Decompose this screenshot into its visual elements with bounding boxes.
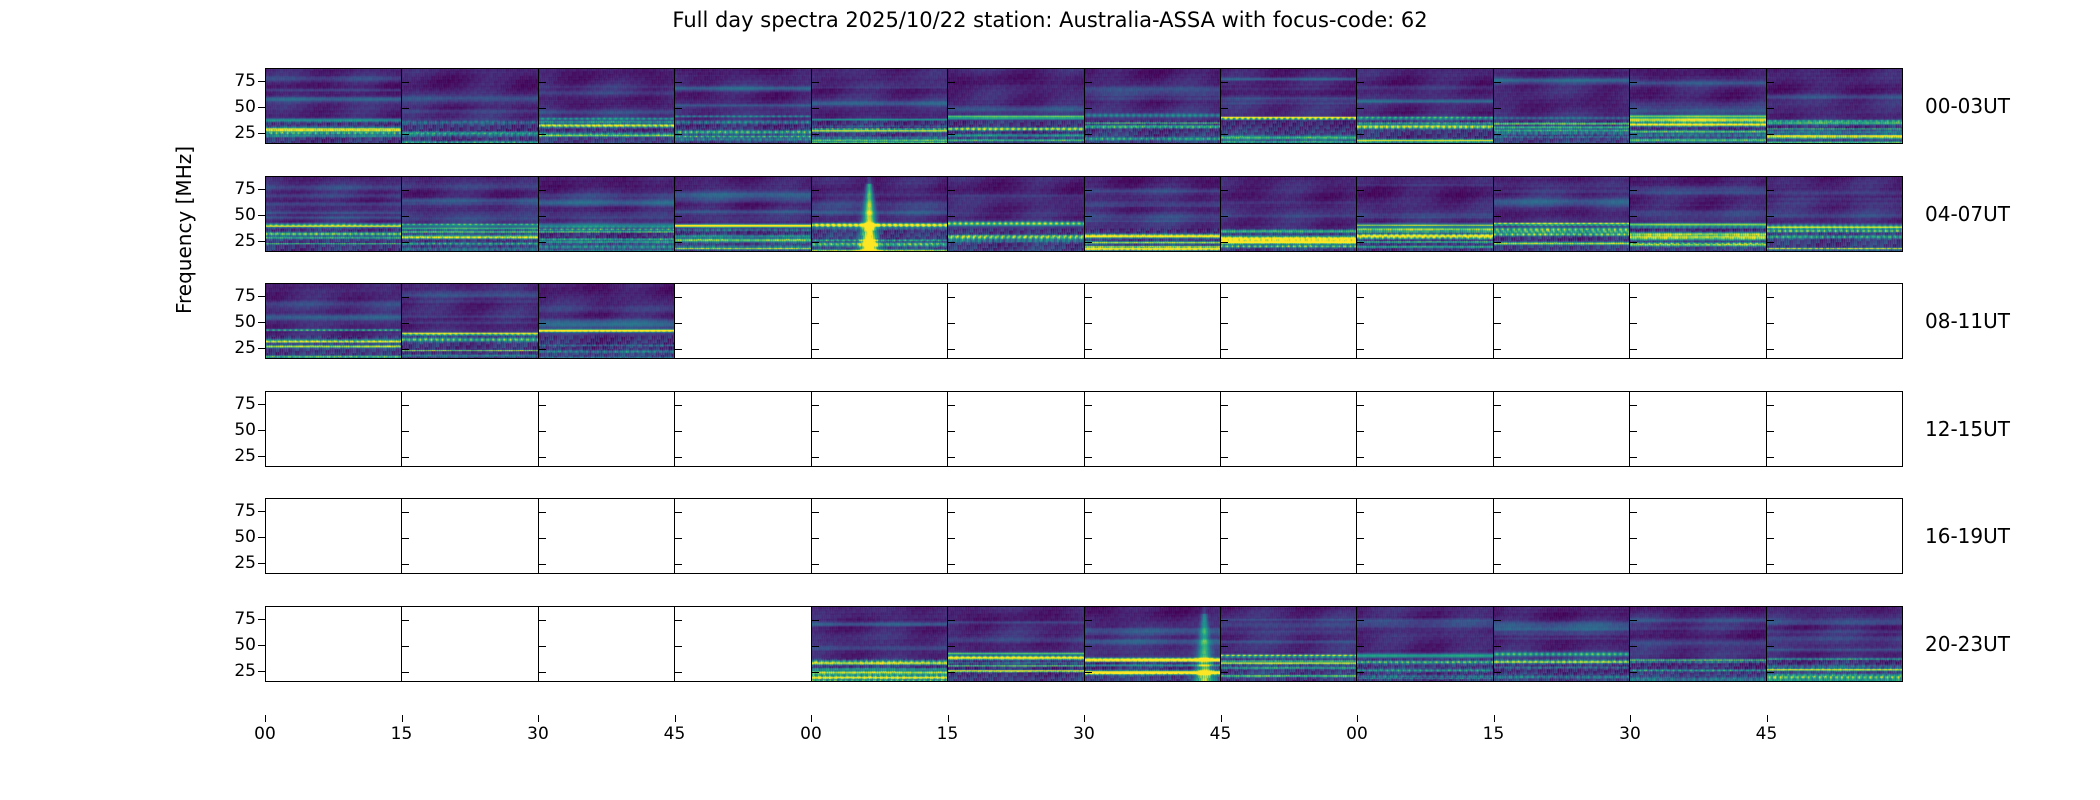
y-tick-mark bbox=[258, 537, 265, 538]
y-tick-mark-inner bbox=[539, 134, 546, 135]
y-tick-mark-inner bbox=[675, 646, 682, 647]
spectrogram-subpanel bbox=[1085, 177, 1221, 251]
y-tick-mark-inner bbox=[1630, 82, 1637, 83]
y-tick-mark bbox=[258, 430, 265, 431]
figure-title: Full day spectra 2025/10/22 station: Aus… bbox=[0, 8, 2100, 32]
y-tick-mark-inner bbox=[675, 672, 682, 673]
y-tick-mark bbox=[258, 645, 265, 646]
row-subpanels bbox=[266, 607, 1902, 681]
spectrogram-subpanel bbox=[1221, 177, 1357, 251]
y-tick-mark-inner bbox=[1494, 672, 1501, 673]
y-tick-mark-inner bbox=[812, 134, 819, 135]
spectrogram-subpanel bbox=[948, 69, 1084, 143]
x-tick-mark bbox=[1494, 715, 1495, 722]
y-tick-mark-inner bbox=[948, 646, 955, 647]
spectrogram-subpanel bbox=[1494, 69, 1630, 143]
y-tick-label: 50 bbox=[234, 97, 256, 117]
y-tick-mark-inner bbox=[1085, 297, 1092, 298]
y-tick-mark-inner bbox=[1630, 297, 1637, 298]
y-tick-mark-inner bbox=[1767, 646, 1774, 647]
y-tick-mark-inner bbox=[1630, 323, 1637, 324]
y-tick-mark-inner bbox=[675, 405, 682, 406]
y-tick-mark-inner bbox=[402, 134, 409, 135]
y-tick-mark-inner bbox=[1494, 216, 1501, 217]
y-tick-mark-inner bbox=[1630, 349, 1637, 350]
y-tick-mark-inner bbox=[948, 457, 955, 458]
y-tick-mark-inner bbox=[539, 564, 546, 565]
y-tick-mark-inner bbox=[1630, 512, 1637, 513]
empty-subpanel bbox=[266, 499, 402, 573]
y-tick-mark-inner bbox=[675, 620, 682, 621]
y-tick-mark-inner bbox=[1767, 672, 1774, 673]
y-tick-mark-inner bbox=[1221, 297, 1228, 298]
y-tick-mark-inner bbox=[1085, 672, 1092, 673]
y-tick-mark-inner bbox=[675, 242, 682, 243]
y-tick-mark bbox=[258, 81, 265, 82]
y-tick-mark bbox=[258, 563, 265, 564]
y-tick-mark-inner bbox=[1630, 457, 1637, 458]
y-tick-mark-inner bbox=[812, 512, 819, 513]
row-label: 04-07UT bbox=[1925, 202, 2010, 226]
x-tick-mark bbox=[1357, 715, 1358, 722]
y-tick-mark-inner bbox=[1357, 538, 1364, 539]
y-tick-mark-inner bbox=[402, 349, 409, 350]
spectrogram-subpanel bbox=[812, 607, 948, 681]
y-tick-mark-inner bbox=[1357, 457, 1364, 458]
spectrogram-image bbox=[1494, 607, 1629, 681]
spectrogram-subpanel bbox=[1494, 177, 1630, 251]
empty-subpanel bbox=[1085, 284, 1221, 358]
y-tick-mark-inner bbox=[402, 672, 409, 673]
x-tick-mark bbox=[265, 715, 266, 722]
x-tick-label: 15 bbox=[937, 724, 959, 744]
x-tick-mark bbox=[402, 715, 403, 722]
y-tick-label: 25 bbox=[234, 661, 256, 681]
spectrogram-image bbox=[1767, 607, 1902, 681]
spectrogram-subpanel bbox=[1085, 69, 1221, 143]
x-tick-label: 30 bbox=[1073, 724, 1095, 744]
empty-subpanel bbox=[1357, 392, 1493, 466]
y-tick-mark-inner bbox=[1494, 190, 1501, 191]
y-tick-mark bbox=[258, 133, 265, 134]
x-tick-label: 30 bbox=[527, 724, 549, 744]
y-tick-mark-inner bbox=[948, 405, 955, 406]
y-tick-mark-inner bbox=[1494, 349, 1501, 350]
spectrogram-image bbox=[812, 607, 947, 681]
y-tick-mark-inner bbox=[812, 457, 819, 458]
spectrogram-subpanel bbox=[948, 177, 1084, 251]
spectrogram-image bbox=[948, 607, 1083, 681]
y-tick-mark-inner bbox=[1357, 323, 1364, 324]
spectrogram-image bbox=[539, 177, 674, 251]
y-tick-label: 75 bbox=[234, 394, 256, 414]
spectrogram-subpanel bbox=[266, 69, 402, 143]
spectrogram-image bbox=[1630, 69, 1765, 143]
row-subpanels bbox=[266, 499, 1902, 573]
y-tick-mark-inner bbox=[402, 457, 409, 458]
spectrogram-image bbox=[266, 177, 401, 251]
spectrogram-subpanel bbox=[402, 69, 538, 143]
y-tick-mark-inner bbox=[1357, 216, 1364, 217]
y-tick-mark-inner bbox=[675, 134, 682, 135]
y-tick-mark-inner bbox=[1085, 323, 1092, 324]
spectrogram-subpanel bbox=[948, 607, 1084, 681]
y-tick-mark-inner bbox=[675, 323, 682, 324]
y-tick-mark-inner bbox=[1085, 512, 1092, 513]
y-tick-mark-inner bbox=[539, 538, 546, 539]
y-tick-mark-inner bbox=[948, 216, 955, 217]
y-tick-mark-inner bbox=[675, 82, 682, 83]
row-subpanels bbox=[266, 177, 1902, 251]
spectrogram-row bbox=[265, 68, 1903, 144]
spectrogram-subpanel bbox=[1767, 69, 1902, 143]
y-tick-mark-inner bbox=[539, 108, 546, 109]
y-tick-mark-inner bbox=[1767, 405, 1774, 406]
y-tick-mark-inner bbox=[1767, 512, 1774, 513]
y-tick-mark-inner bbox=[948, 190, 955, 191]
y-tick-mark-inner bbox=[675, 431, 682, 432]
spectrogram-image bbox=[266, 69, 401, 143]
y-tick-mark-inner bbox=[402, 512, 409, 513]
spectrogram-subpanel bbox=[1357, 607, 1493, 681]
y-tick-mark-inner bbox=[1357, 672, 1364, 673]
spectrogram-image bbox=[266, 284, 401, 358]
row-subpanels bbox=[266, 284, 1902, 358]
y-tick-label: 50 bbox=[234, 312, 256, 332]
spectrogram-row bbox=[265, 391, 1903, 467]
y-tick-mark bbox=[258, 189, 265, 190]
y-tick-mark-inner bbox=[948, 349, 955, 350]
y-tick-mark-inner bbox=[539, 457, 546, 458]
y-tick-mark-inner bbox=[1630, 134, 1637, 135]
y-tick-mark-inner bbox=[539, 297, 546, 298]
empty-subpanel bbox=[675, 607, 811, 681]
y-tick-mark-inner bbox=[1357, 242, 1364, 243]
spectrogram-subpanel bbox=[1630, 177, 1766, 251]
empty-subpanel bbox=[948, 499, 1084, 573]
x-tick-mark bbox=[948, 715, 949, 722]
y-tick-mark-inner bbox=[1085, 216, 1092, 217]
y-tick-mark-inner bbox=[1494, 620, 1501, 621]
empty-subpanel bbox=[1630, 392, 1766, 466]
y-tick-label: 75 bbox=[234, 501, 256, 521]
y-tick-mark-inner bbox=[1085, 538, 1092, 539]
x-tick-mark bbox=[1767, 715, 1768, 722]
spectrogram-row bbox=[265, 283, 1903, 359]
y-tick-mark-inner bbox=[1630, 672, 1637, 673]
y-tick-mark-inner bbox=[402, 538, 409, 539]
y-tick-mark-inner bbox=[1494, 82, 1501, 83]
spectrogram-subpanel bbox=[539, 69, 675, 143]
y-tick-mark-inner bbox=[1494, 512, 1501, 513]
y-tick-mark-inner bbox=[1357, 82, 1364, 83]
y-tick-mark-inner bbox=[1221, 405, 1228, 406]
y-tick-mark-inner bbox=[675, 108, 682, 109]
y-tick-mark-inner bbox=[1630, 405, 1637, 406]
y-tick-mark-inner bbox=[402, 620, 409, 621]
y-tick-mark bbox=[258, 671, 265, 672]
y-tick-mark-inner bbox=[1357, 405, 1364, 406]
spectrogram-subpanel bbox=[1630, 607, 1766, 681]
empty-subpanel bbox=[675, 499, 811, 573]
y-tick-mark-inner bbox=[539, 242, 546, 243]
empty-subpanel bbox=[1494, 392, 1630, 466]
spectrogram-subpanel bbox=[1221, 607, 1357, 681]
y-tick-mark-inner bbox=[1085, 242, 1092, 243]
y-tick-mark-inner bbox=[402, 646, 409, 647]
y-tick-mark-inner bbox=[1494, 242, 1501, 243]
y-tick-mark-inner bbox=[948, 108, 955, 109]
empty-subpanel bbox=[1085, 499, 1221, 573]
y-tick-mark-inner bbox=[1085, 82, 1092, 83]
y-tick-mark-inner bbox=[1767, 349, 1774, 350]
spectrogram-image bbox=[1221, 177, 1356, 251]
y-tick-label: 25 bbox=[234, 446, 256, 466]
y-tick-label: 50 bbox=[234, 635, 256, 655]
y-tick-mark-inner bbox=[1221, 646, 1228, 647]
spectrogram-image bbox=[1630, 177, 1765, 251]
y-tick-mark-inner bbox=[1767, 457, 1774, 458]
spectrogram-image bbox=[812, 177, 947, 251]
y-tick-mark bbox=[258, 511, 265, 512]
spectrogram-image bbox=[1221, 607, 1356, 681]
y-tick-mark-inner bbox=[1221, 349, 1228, 350]
spectrogram-subpanel bbox=[539, 177, 675, 251]
y-tick-mark-inner bbox=[1085, 646, 1092, 647]
y-tick-mark-inner bbox=[948, 242, 955, 243]
x-tick-label: 00 bbox=[800, 724, 822, 744]
x-tick-mark bbox=[1630, 715, 1631, 722]
spectrogram-subpanel bbox=[675, 177, 811, 251]
spectrogram-row bbox=[265, 498, 1903, 574]
y-tick-mark-inner bbox=[1221, 82, 1228, 83]
spectrogram-subpanel bbox=[402, 284, 538, 358]
y-tick-mark-inner bbox=[539, 323, 546, 324]
y-tick-mark-inner bbox=[1221, 512, 1228, 513]
y-tick-mark-inner bbox=[812, 405, 819, 406]
y-tick-mark-inner bbox=[539, 512, 546, 513]
y-tick-mark-inner bbox=[948, 134, 955, 135]
empty-subpanel bbox=[948, 392, 1084, 466]
empty-subpanel bbox=[1494, 499, 1630, 573]
empty-subpanel bbox=[266, 392, 402, 466]
spectrogram-subpanel bbox=[266, 284, 402, 358]
row-subpanels bbox=[266, 69, 1902, 143]
empty-subpanel bbox=[812, 392, 948, 466]
y-tick-mark-inner bbox=[1767, 323, 1774, 324]
spectrogram-image bbox=[1357, 69, 1492, 143]
y-tick-mark-inner bbox=[539, 82, 546, 83]
y-tick-mark bbox=[258, 348, 265, 349]
empty-subpanel bbox=[1767, 392, 1902, 466]
y-tick-mark bbox=[258, 215, 265, 216]
y-tick-mark-inner bbox=[812, 349, 819, 350]
y-tick-mark-inner bbox=[539, 190, 546, 191]
y-tick-mark-inner bbox=[1767, 134, 1774, 135]
y-tick-mark-inner bbox=[812, 538, 819, 539]
y-tick-mark-inner bbox=[1767, 538, 1774, 539]
empty-subpanel bbox=[675, 284, 811, 358]
y-tick-mark-inner bbox=[1221, 323, 1228, 324]
y-tick-mark-inner bbox=[812, 620, 819, 621]
y-tick-mark-inner bbox=[1221, 620, 1228, 621]
empty-subpanel bbox=[812, 499, 948, 573]
spectrogram-image bbox=[539, 284, 674, 358]
spectrogram-subpanel bbox=[812, 69, 948, 143]
y-tick-mark-inner bbox=[812, 431, 819, 432]
y-tick-label: 25 bbox=[234, 553, 256, 573]
y-tick-mark-inner bbox=[1494, 538, 1501, 539]
spectrogram-subpanel bbox=[675, 69, 811, 143]
y-tick-mark-inner bbox=[1630, 242, 1637, 243]
empty-subpanel bbox=[539, 499, 675, 573]
y-tick-mark-inner bbox=[1357, 564, 1364, 565]
y-tick-mark-inner bbox=[1357, 108, 1364, 109]
y-tick-mark-inner bbox=[1357, 431, 1364, 432]
y-tick-mark-inner bbox=[1494, 323, 1501, 324]
y-tick-mark-inner bbox=[1494, 297, 1501, 298]
empty-subpanel bbox=[266, 607, 402, 681]
y-tick-label: 75 bbox=[234, 286, 256, 306]
y-tick-label: 50 bbox=[234, 420, 256, 440]
spectrogram-subpanel bbox=[1085, 607, 1221, 681]
y-tick-mark-inner bbox=[1767, 620, 1774, 621]
y-tick-mark-inner bbox=[539, 405, 546, 406]
y-axis-label: Frequency [MHz] bbox=[172, 100, 196, 360]
y-tick-mark-inner bbox=[1085, 620, 1092, 621]
y-tick-mark bbox=[258, 322, 265, 323]
y-tick-mark-inner bbox=[1494, 405, 1501, 406]
spectrogram-row bbox=[265, 606, 1903, 682]
spectrogram-image bbox=[402, 284, 537, 358]
y-tick-mark bbox=[258, 404, 265, 405]
empty-subpanel bbox=[1767, 284, 1902, 358]
spectrogram-image bbox=[1085, 69, 1220, 143]
y-tick-mark-inner bbox=[1630, 108, 1637, 109]
y-tick-mark-inner bbox=[675, 190, 682, 191]
row-label: 08-11UT bbox=[1925, 309, 2010, 333]
spectrogram-image bbox=[402, 177, 537, 251]
y-tick-mark-inner bbox=[402, 564, 409, 565]
empty-subpanel bbox=[402, 392, 538, 466]
y-tick-mark-inner bbox=[1221, 242, 1228, 243]
y-tick-mark-inner bbox=[1085, 457, 1092, 458]
row-subpanels bbox=[266, 392, 1902, 466]
y-tick-mark-inner bbox=[539, 431, 546, 432]
empty-subpanel bbox=[539, 607, 675, 681]
x-tick-mark bbox=[675, 715, 676, 722]
y-tick-mark-inner bbox=[675, 564, 682, 565]
y-tick-mark-inner bbox=[1085, 190, 1092, 191]
y-tick-label: 75 bbox=[234, 179, 256, 199]
y-tick-mark-inner bbox=[1494, 646, 1501, 647]
spectrogram-subpanel bbox=[266, 177, 402, 251]
x-tick-mark bbox=[1084, 715, 1085, 722]
y-tick-mark-inner bbox=[1767, 564, 1774, 565]
y-tick-mark-inner bbox=[1767, 82, 1774, 83]
spectrogram-image bbox=[675, 69, 810, 143]
y-tick-mark-inner bbox=[402, 431, 409, 432]
y-tick-mark bbox=[258, 107, 265, 108]
y-tick-mark-inner bbox=[948, 82, 955, 83]
y-tick-mark-inner bbox=[1767, 431, 1774, 432]
y-tick-label: 25 bbox=[234, 123, 256, 143]
spectrogram-subpanel bbox=[1357, 69, 1493, 143]
y-tick-mark-inner bbox=[1630, 620, 1637, 621]
y-tick-mark-inner bbox=[1767, 108, 1774, 109]
y-tick-mark-inner bbox=[1221, 134, 1228, 135]
y-tick-mark-inner bbox=[1494, 108, 1501, 109]
y-tick-mark-inner bbox=[1767, 297, 1774, 298]
row-label: 16-19UT bbox=[1925, 524, 2010, 548]
y-tick-mark-inner bbox=[1085, 405, 1092, 406]
y-tick-mark-inner bbox=[1630, 646, 1637, 647]
x-tick-label: 45 bbox=[1210, 724, 1232, 744]
empty-subpanel bbox=[1767, 499, 1902, 573]
spectrogram-subpanel bbox=[1767, 607, 1902, 681]
spectrogram-image bbox=[675, 177, 810, 251]
y-tick-mark-inner bbox=[1357, 512, 1364, 513]
y-tick-label: 75 bbox=[234, 71, 256, 91]
empty-subpanel bbox=[948, 284, 1084, 358]
x-tick-label: 45 bbox=[1756, 724, 1778, 744]
empty-subpanel bbox=[1221, 392, 1357, 466]
row-label: 00-03UT bbox=[1925, 94, 2010, 118]
spectrogram-image bbox=[812, 69, 947, 143]
y-tick-mark-inner bbox=[402, 190, 409, 191]
y-tick-mark-inner bbox=[1085, 564, 1092, 565]
y-tick-mark-inner bbox=[402, 405, 409, 406]
y-tick-mark-inner bbox=[675, 538, 682, 539]
x-axis: 001530450015304500153045 bbox=[265, 715, 1903, 755]
y-tick-mark-inner bbox=[948, 620, 955, 621]
y-tick-mark-inner bbox=[812, 216, 819, 217]
y-tick-mark-inner bbox=[1494, 431, 1501, 432]
y-tick-mark-inner bbox=[948, 538, 955, 539]
y-tick-mark bbox=[258, 456, 265, 457]
x-tick-mark bbox=[811, 715, 812, 722]
y-tick-mark-inner bbox=[1357, 349, 1364, 350]
spectrogram-image bbox=[1085, 177, 1220, 251]
x-tick-label: 30 bbox=[1619, 724, 1641, 744]
y-tick-mark-inner bbox=[1221, 431, 1228, 432]
spectrogram-image bbox=[1494, 69, 1629, 143]
y-tick-mark-inner bbox=[675, 349, 682, 350]
spectrogram-subpanel bbox=[1221, 69, 1357, 143]
y-tick-mark bbox=[258, 619, 265, 620]
y-tick-mark-inner bbox=[1221, 672, 1228, 673]
empty-subpanel bbox=[1085, 392, 1221, 466]
y-tick-mark-inner bbox=[948, 564, 955, 565]
spectrogram-subpanel bbox=[1630, 69, 1766, 143]
spectrogram-image bbox=[1221, 69, 1356, 143]
y-tick-mark-inner bbox=[539, 349, 546, 350]
y-tick-mark-inner bbox=[1494, 457, 1501, 458]
y-tick-mark-inner bbox=[675, 216, 682, 217]
spectrogram-image bbox=[1357, 177, 1492, 251]
y-tick-mark bbox=[258, 241, 265, 242]
y-tick-mark-inner bbox=[1357, 646, 1364, 647]
empty-subpanel bbox=[1494, 284, 1630, 358]
y-tick-mark-inner bbox=[1630, 538, 1637, 539]
empty-subpanel bbox=[1357, 284, 1493, 358]
empty-subpanel bbox=[812, 284, 948, 358]
y-tick-mark-inner bbox=[675, 512, 682, 513]
x-tick-label: 00 bbox=[1346, 724, 1368, 744]
row-label: 20-23UT bbox=[1925, 632, 2010, 656]
y-tick-mark-inner bbox=[948, 512, 955, 513]
y-tick-mark-inner bbox=[1085, 134, 1092, 135]
